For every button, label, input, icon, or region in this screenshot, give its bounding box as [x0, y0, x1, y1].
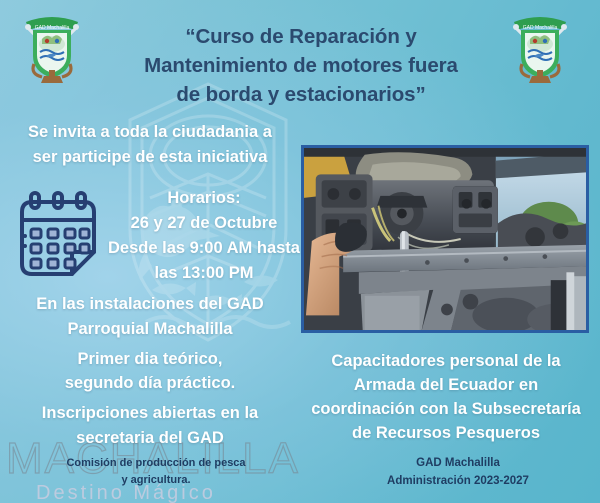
footer-left-line-2: y agricultura.	[28, 472, 284, 489]
invitation-line-2: ser participe de esta iniciativa	[8, 145, 292, 170]
trainers-line-2: Armada del Ecuador en	[300, 374, 592, 398]
trainers-line-4: de Recursos Pesqueros	[300, 422, 592, 446]
schedule-dates: 26 y 27 de Octubre	[108, 211, 300, 236]
engine-photo	[301, 145, 589, 333]
schedule-time-line-2: las 13:00 PM	[108, 261, 300, 286]
title-line-3: de borda y estacionarios”	[96, 80, 506, 109]
logo-left-crest-icon: GAD Machalilla	[16, 6, 88, 84]
title-line-2: Mantenimiento de motores fuera	[96, 51, 506, 80]
invitation-line-1: Se invita a toda la ciudadania a	[8, 120, 292, 145]
trainers-line-1: Capacitadores personal de la	[300, 350, 592, 374]
poster-canvas: MACHALILLA Destino Mágico GAD Machalilla…	[0, 0, 600, 503]
title-line-1: “Curso de Reparación y	[96, 22, 506, 51]
trainers-line-3: coordinación con la Subsecretaría	[300, 398, 592, 422]
footer-right: GAD Machalilla Administración 2023-2027	[330, 455, 586, 491]
footer-right-line-1: GAD Machalilla	[330, 455, 586, 473]
venue-line-3: Primer dia teórico,	[8, 347, 292, 372]
poster-title: “Curso de Reparación y Mantenimiento de …	[96, 22, 506, 109]
schedule-text: Horarios: 26 y 27 de Octubre Desde las 9…	[108, 186, 300, 286]
venue-text: En las instalaciones del GAD Parroquial …	[8, 292, 292, 451]
schedule-time-line-1: Desde las 9:00 AM hasta	[108, 236, 300, 261]
logo-right-crest-icon: GAD Machalilla	[504, 6, 576, 84]
venue-line-1: En las instalaciones del GAD	[8, 292, 292, 317]
schedule-heading: Horarios:	[108, 186, 300, 211]
invitation-text: Se invita a toda la ciudadania a ser par…	[8, 120, 292, 170]
footer-right-line-2: Administración 2023-2027	[330, 473, 586, 491]
footer-left: Comisión de producción de pesca y agricu…	[28, 455, 284, 488]
calendar-icon	[14, 190, 102, 282]
footer-left-line-1: Comisión de producción de pesca	[28, 455, 284, 472]
venue-line-6: secretaria del GAD	[8, 426, 292, 451]
venue-line-4: segundo día práctico.	[8, 371, 292, 396]
venue-line-2: Parroquial Machalilla	[8, 317, 292, 342]
trainers-text: Capacitadores personal de la Armada del …	[300, 350, 592, 446]
venue-line-5: Inscripciones abiertas en la	[8, 401, 292, 426]
